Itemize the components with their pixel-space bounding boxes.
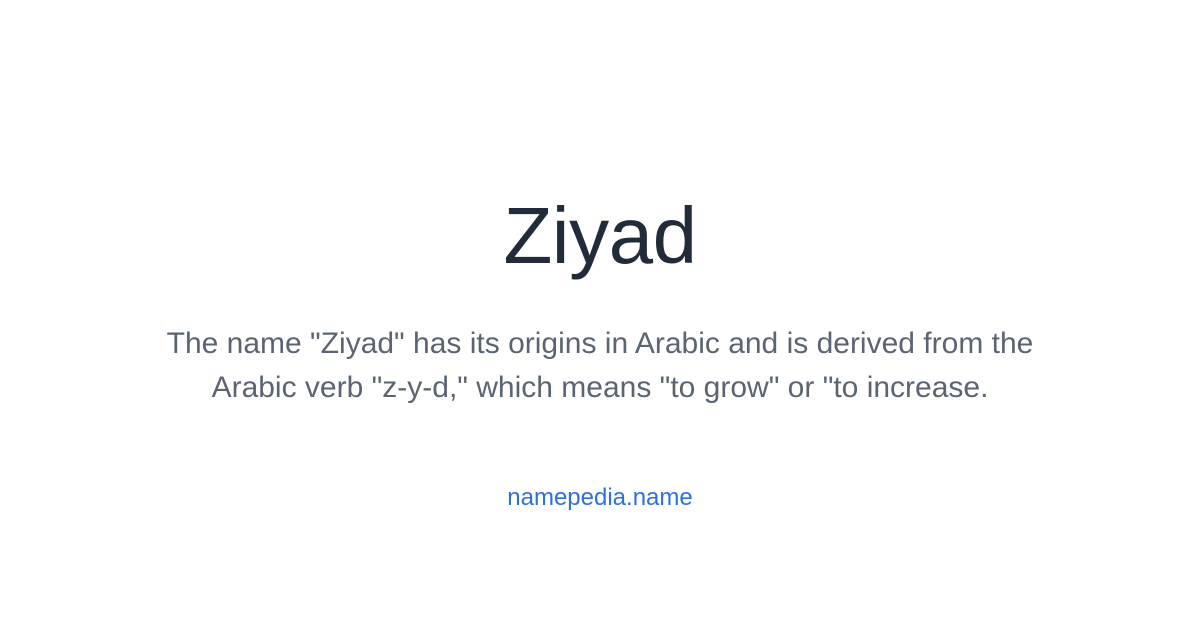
name-info-card: Ziyad The name "Ziyad" has its origins i… bbox=[0, 0, 1200, 630]
site-link[interactable]: namepedia.name bbox=[507, 486, 692, 510]
site-link-container: namepedia.name bbox=[0, 486, 1200, 510]
name-description: The name "Ziyad" has its origins in Arab… bbox=[150, 322, 1050, 410]
page-title: Ziyad bbox=[503, 196, 696, 276]
